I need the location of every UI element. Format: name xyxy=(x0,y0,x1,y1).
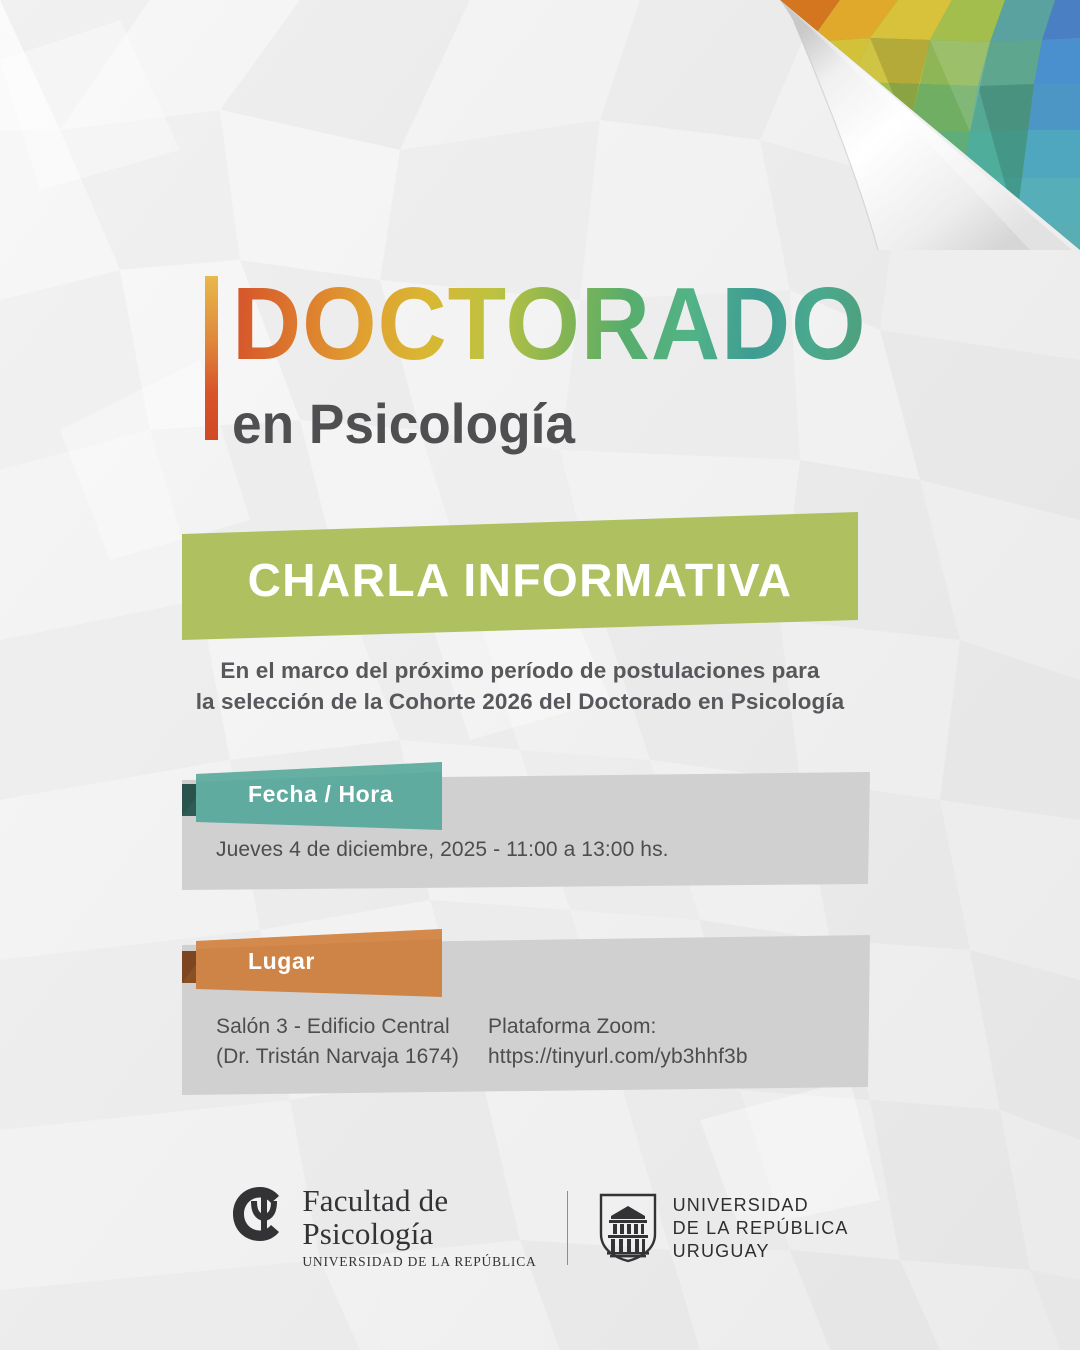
lead-line-2: la selección de la Cohorte 2026 del Doct… xyxy=(180,686,860,717)
lead-line-1: En el marco del próximo período de postu… xyxy=(180,655,860,686)
footer-logos: Facultad de Psicología UNIVERSIDAD DE LA… xyxy=(0,1182,1080,1274)
lugar-platform: Plataforma Zoom: https://tinyurl.com/yb3… xyxy=(488,1012,748,1072)
ribbon-label-fecha: Fecha / Hora xyxy=(248,781,393,808)
shield-crest-icon xyxy=(598,1192,658,1264)
corner-peel-decoration xyxy=(780,0,1080,250)
lead-paragraph: En el marco del próximo período de postu… xyxy=(180,655,860,717)
university-line-3: URUGUAY xyxy=(673,1240,849,1263)
ribbon-label-lugar: Lugar xyxy=(248,948,315,975)
fecha-hora-value: Jueves 4 de diciembre, 2025 - 11:00 a 13… xyxy=(216,835,669,865)
faculty-line-2: Psicología xyxy=(302,1217,536,1250)
psi-icon xyxy=(231,1185,289,1245)
banner-label: CHARLA INFORMATIVA xyxy=(182,516,858,644)
platform-label: Plataforma Zoom: xyxy=(488,1012,748,1042)
title-block: DOCTORADO en Psicología xyxy=(200,272,900,384)
platform-url-link[interactable]: https://tinyurl.com/yb3hhf3b xyxy=(488,1042,748,1072)
faculty-line-1: Facultad de xyxy=(302,1185,536,1217)
lugar-address-line-1: Salón 3 - Edificio Central xyxy=(216,1012,459,1042)
faculty-line-3: UNIVERSIDAD DE LA REPÚBLICA xyxy=(302,1252,536,1272)
university-line-2: DE LA REPÚBLICA xyxy=(673,1217,849,1240)
page-title: DOCTORADO xyxy=(232,272,867,376)
charla-banner: CHARLA INFORMATIVA xyxy=(182,512,858,640)
lugar-address-line-2: (Dr. Tristán Narvaja 1674) xyxy=(216,1042,459,1072)
footer-divider xyxy=(567,1191,568,1265)
poster-canvas: DOCTORADO en Psicología CHARLA INFORMATI… xyxy=(0,0,1080,1350)
page-subtitle: en Psicología xyxy=(232,394,575,454)
panel-fecha-hora: Fecha / Hora Jueves 4 de diciembre, 2025… xyxy=(170,760,870,900)
lugar-address: Salón 3 - Edificio Central (Dr. Tristán … xyxy=(216,1012,459,1072)
logo-facultad-psicologia: Facultad de Psicología UNIVERSIDAD DE LA… xyxy=(231,1185,536,1272)
logo-universidad-republica: UNIVERSIDAD DE LA REPÚBLICA URUGUAY xyxy=(598,1192,849,1264)
panel-lugar: Lugar Salón 3 - Edificio Central (Dr. Tr… xyxy=(170,925,870,1105)
university-line-1: UNIVERSIDAD xyxy=(673,1194,849,1217)
